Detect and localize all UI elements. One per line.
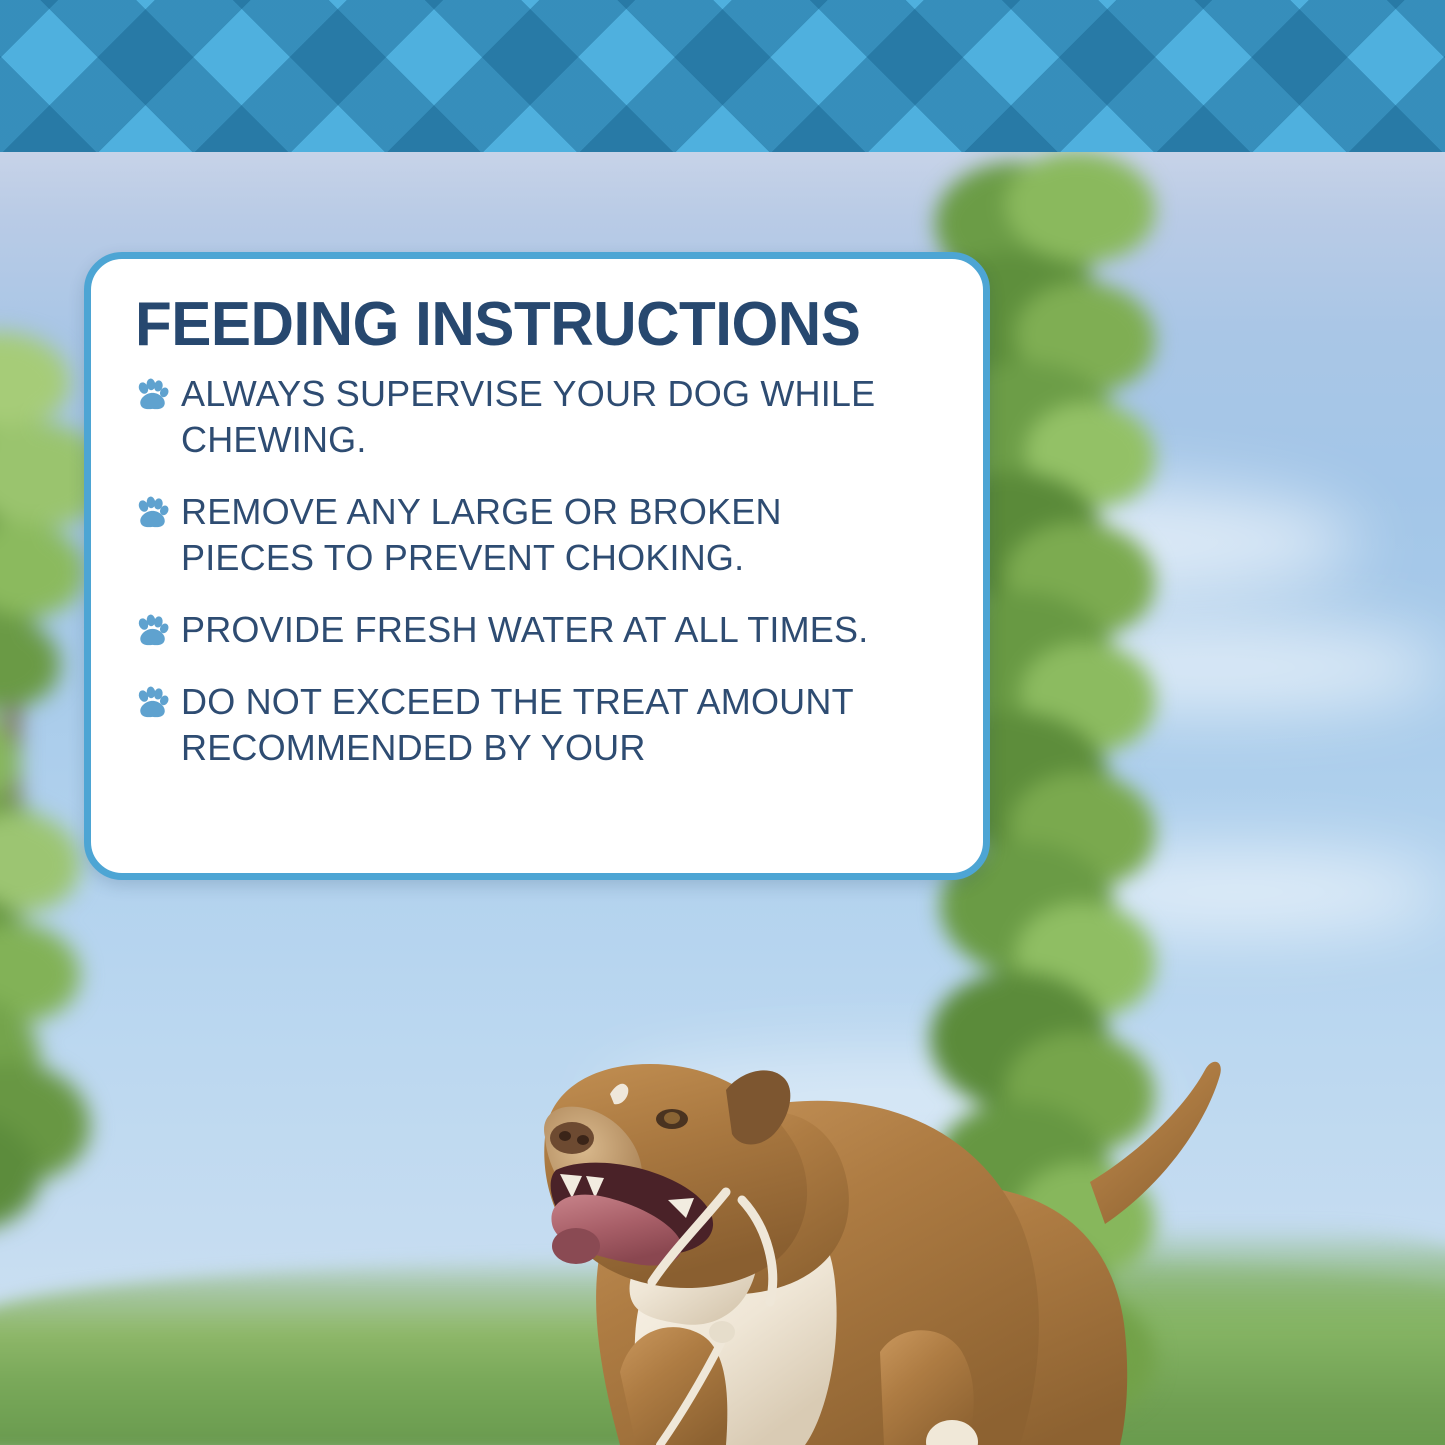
feeding-instructions-list: ALWAYS SUPERVISE YOUR DOG WHILE CHEWING.…: [135, 371, 939, 770]
paw-icon: [135, 614, 169, 648]
page-title: FEEDING INSTRUCTIONS: [135, 293, 915, 357]
paw-icon: [135, 378, 169, 412]
list-item-label: PROVIDE FRESH WATER AT ALL TIMES.: [181, 607, 868, 652]
paw-icon: [135, 686, 169, 720]
product-info-poster: FEEDING INSTRUCTIONS ALWAYS SUPERVISE YO…: [0, 0, 1445, 1445]
paw-icon: [135, 496, 169, 530]
list-item: DO NOT EXCEED THE TREAT AMOUNT RECOMMEND…: [135, 679, 939, 770]
leash-slider: [709, 1321, 735, 1343]
feeding-instructions-card: FEEDING INSTRUCTIONS ALWAYS SUPERVISE YO…: [84, 252, 990, 880]
list-item-label: DO NOT EXCEED THE TREAT AMOUNT RECOMMEND…: [181, 679, 921, 770]
gingham-banner: [0, 0, 1445, 152]
dog-tail: [1090, 1062, 1221, 1224]
list-item: PROVIDE FRESH WATER AT ALL TIMES.: [135, 607, 939, 652]
list-item-label: ALWAYS SUPERVISE YOUR DOG WHILE CHEWING.: [181, 371, 921, 462]
list-item: ALWAYS SUPERVISE YOUR DOG WHILE CHEWING.: [135, 371, 939, 462]
list-item-label: REMOVE ANY LARGE OR BROKEN PIECES TO PRE…: [181, 489, 921, 580]
list-item: REMOVE ANY LARGE OR BROKEN PIECES TO PRE…: [135, 489, 939, 580]
